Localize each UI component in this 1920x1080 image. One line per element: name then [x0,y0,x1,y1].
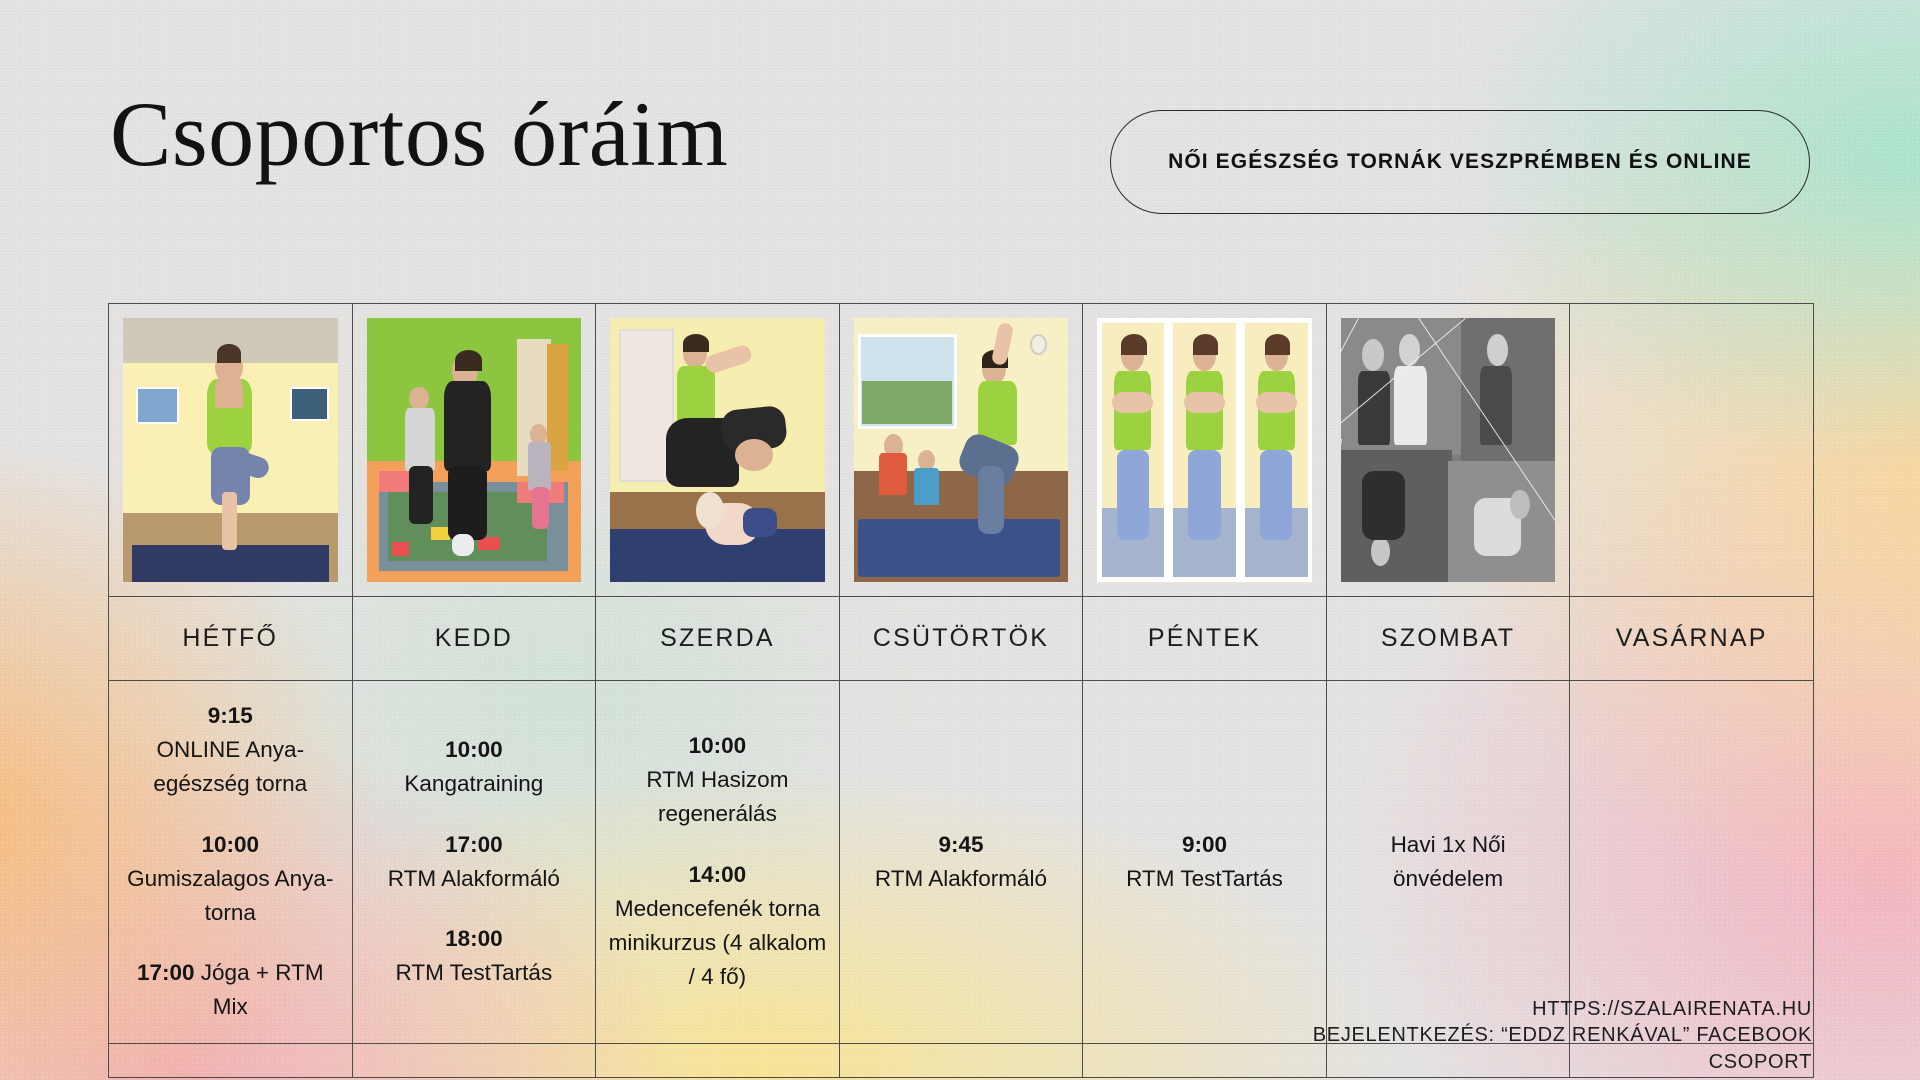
class-time: 10:00 [606,729,829,763]
day-header-label: PÉNTEK [1148,624,1261,652]
photo-cell-csutortok [839,304,1083,597]
photo-cell-szombat [1326,304,1570,597]
photo-cell-hétfo [109,304,353,597]
class-entry-gap [119,802,342,828]
class-entry-gap [363,896,586,922]
class-name: RTM Hasizom regenerálás [606,763,829,831]
photo-kangatraining-group [367,318,582,582]
footer-line-booking: BEJELENTKEZÉS: “EDDZ RENKÁVAL” FACEBOOK [912,1022,1812,1048]
class-time: 17:00 [137,960,195,985]
class-name: Medencefenék torna minikurzus (4 alkalom… [606,892,829,995]
day-header-csutortok: CSÜTÖRTÖK [839,597,1083,681]
class-time: 9:45 [850,828,1073,862]
day-header-label: KEDD [435,624,513,652]
class-time: 17:00 [363,828,586,862]
photo-placeholder-empty [1584,318,1799,582]
class-cell-szerda: 10:00RTM Hasizom regenerálás14:00Medence… [596,681,840,1044]
class-name: RTM Alakformáló [850,862,1073,896]
day-header-label: CSÜTÖRTÖK [873,624,1049,652]
class-time: 9:00 [1093,828,1316,862]
photo-self-defense-collage [1341,318,1556,582]
day-header-péntek: PÉNTEK [1083,597,1327,681]
tagline-badge: NŐI EGÉSZSÉG TORNÁK VESZPRÉMBEN ÉS ONLIN… [1110,110,1810,214]
schedule-table: HÉTFŐKEDDSZERDACSÜTÖRTÖKPÉNTEKSZOMBATVAS… [108,303,1814,1078]
photo-posture-triptych [1097,318,1312,582]
page-title: Csoportos óráim [110,80,728,189]
class-time: 10:00 [363,733,586,767]
class-name: Jóga + RTM Mix [201,960,324,1019]
class-name: RTM TestTartás [363,956,586,990]
class-time: 10:00 [119,828,342,862]
day-header-label: VASÁRNAP [1616,624,1768,652]
day-header-kedd: KEDD [352,597,596,681]
footer-contact: HTTPS://SZALAIRENATA.HU BEJELENTKEZÉS: “… [912,996,1812,1075]
footer-line-website[interactable]: HTTPS://SZALAIRENATA.HU [912,996,1812,1022]
photo-yoga-tree-pose [123,318,338,582]
poster-page: Csoportos óráim NŐI EGÉSZSÉG TORNÁK VESZ… [0,0,1920,1080]
class-name: ONLINE Anya-egészség torna [119,733,342,801]
day-header-row: HÉTFŐKEDDSZERDACSÜTÖRTÖKPÉNTEKSZOMBATVAS… [109,597,1814,681]
class-cell-vasarnap [1570,681,1814,1044]
photo-baby-floor-training [610,318,825,582]
day-header-szombat: SZOMBAT [1326,597,1570,681]
class-cell-csutortok: 9:45RTM Alakformáló [839,681,1083,1044]
header: Csoportos óráim NŐI EGÉSZSÉG TORNÁK VESZ… [110,92,1810,232]
spacer-cell-kedd [352,1043,596,1077]
photo-row [109,304,1814,597]
photo-cell-szerda [596,304,840,597]
day-header-label: SZOMBAT [1381,624,1515,652]
class-time: 18:00 [363,922,586,956]
photo-cell-vasarnap [1570,304,1814,597]
class-cell-hétfo: 9:15ONLINE Anya-egészség torna10:00Gumis… [109,681,353,1044]
class-time: 14:00 [606,858,829,892]
footer-line-group: CSOPORT [912,1049,1812,1075]
class-content-row: 9:15ONLINE Anya-egészség torna10:00Gumis… [109,681,1814,1044]
class-name: Kangatraining [363,767,586,801]
class-entry-gap [606,832,829,858]
class-cell-péntek: 9:00RTM TestTartás [1083,681,1327,1044]
spacer-cell-szerda [596,1043,840,1077]
day-header-szerda: SZERDA [596,597,840,681]
photo-cell-péntek [1083,304,1327,597]
class-name: Gumiszalagos Anya-torna [119,862,342,930]
day-header-vasarnap: VASÁRNAP [1570,597,1814,681]
photo-cell-kedd [352,304,596,597]
class-entry: 17:00 Jóga + RTM Mix [119,956,342,1024]
class-name: RTM TestTartás [1093,862,1316,896]
class-name: RTM Alakformáló [363,862,586,896]
class-name: Havi 1x Női önvédelem [1337,828,1560,896]
photo-studio-lunge [854,318,1069,582]
day-header-hétfo: HÉTFŐ [109,597,353,681]
class-cell-kedd: 10:00Kangatraining17:00RTM Alakformáló18… [352,681,596,1044]
class-entry-gap [363,802,586,828]
day-header-label: SZERDA [660,624,775,652]
day-header-label: HÉTFŐ [182,624,278,652]
spacer-cell-hétfo [109,1043,353,1077]
tagline-text: NŐI EGÉSZSÉG TORNÁK VESZPRÉMBEN ÉS ONLIN… [1168,150,1752,174]
class-cell-szombat: Havi 1x Női önvédelem [1326,681,1570,1044]
class-time: 9:15 [119,699,342,733]
class-entry-gap [119,930,342,956]
